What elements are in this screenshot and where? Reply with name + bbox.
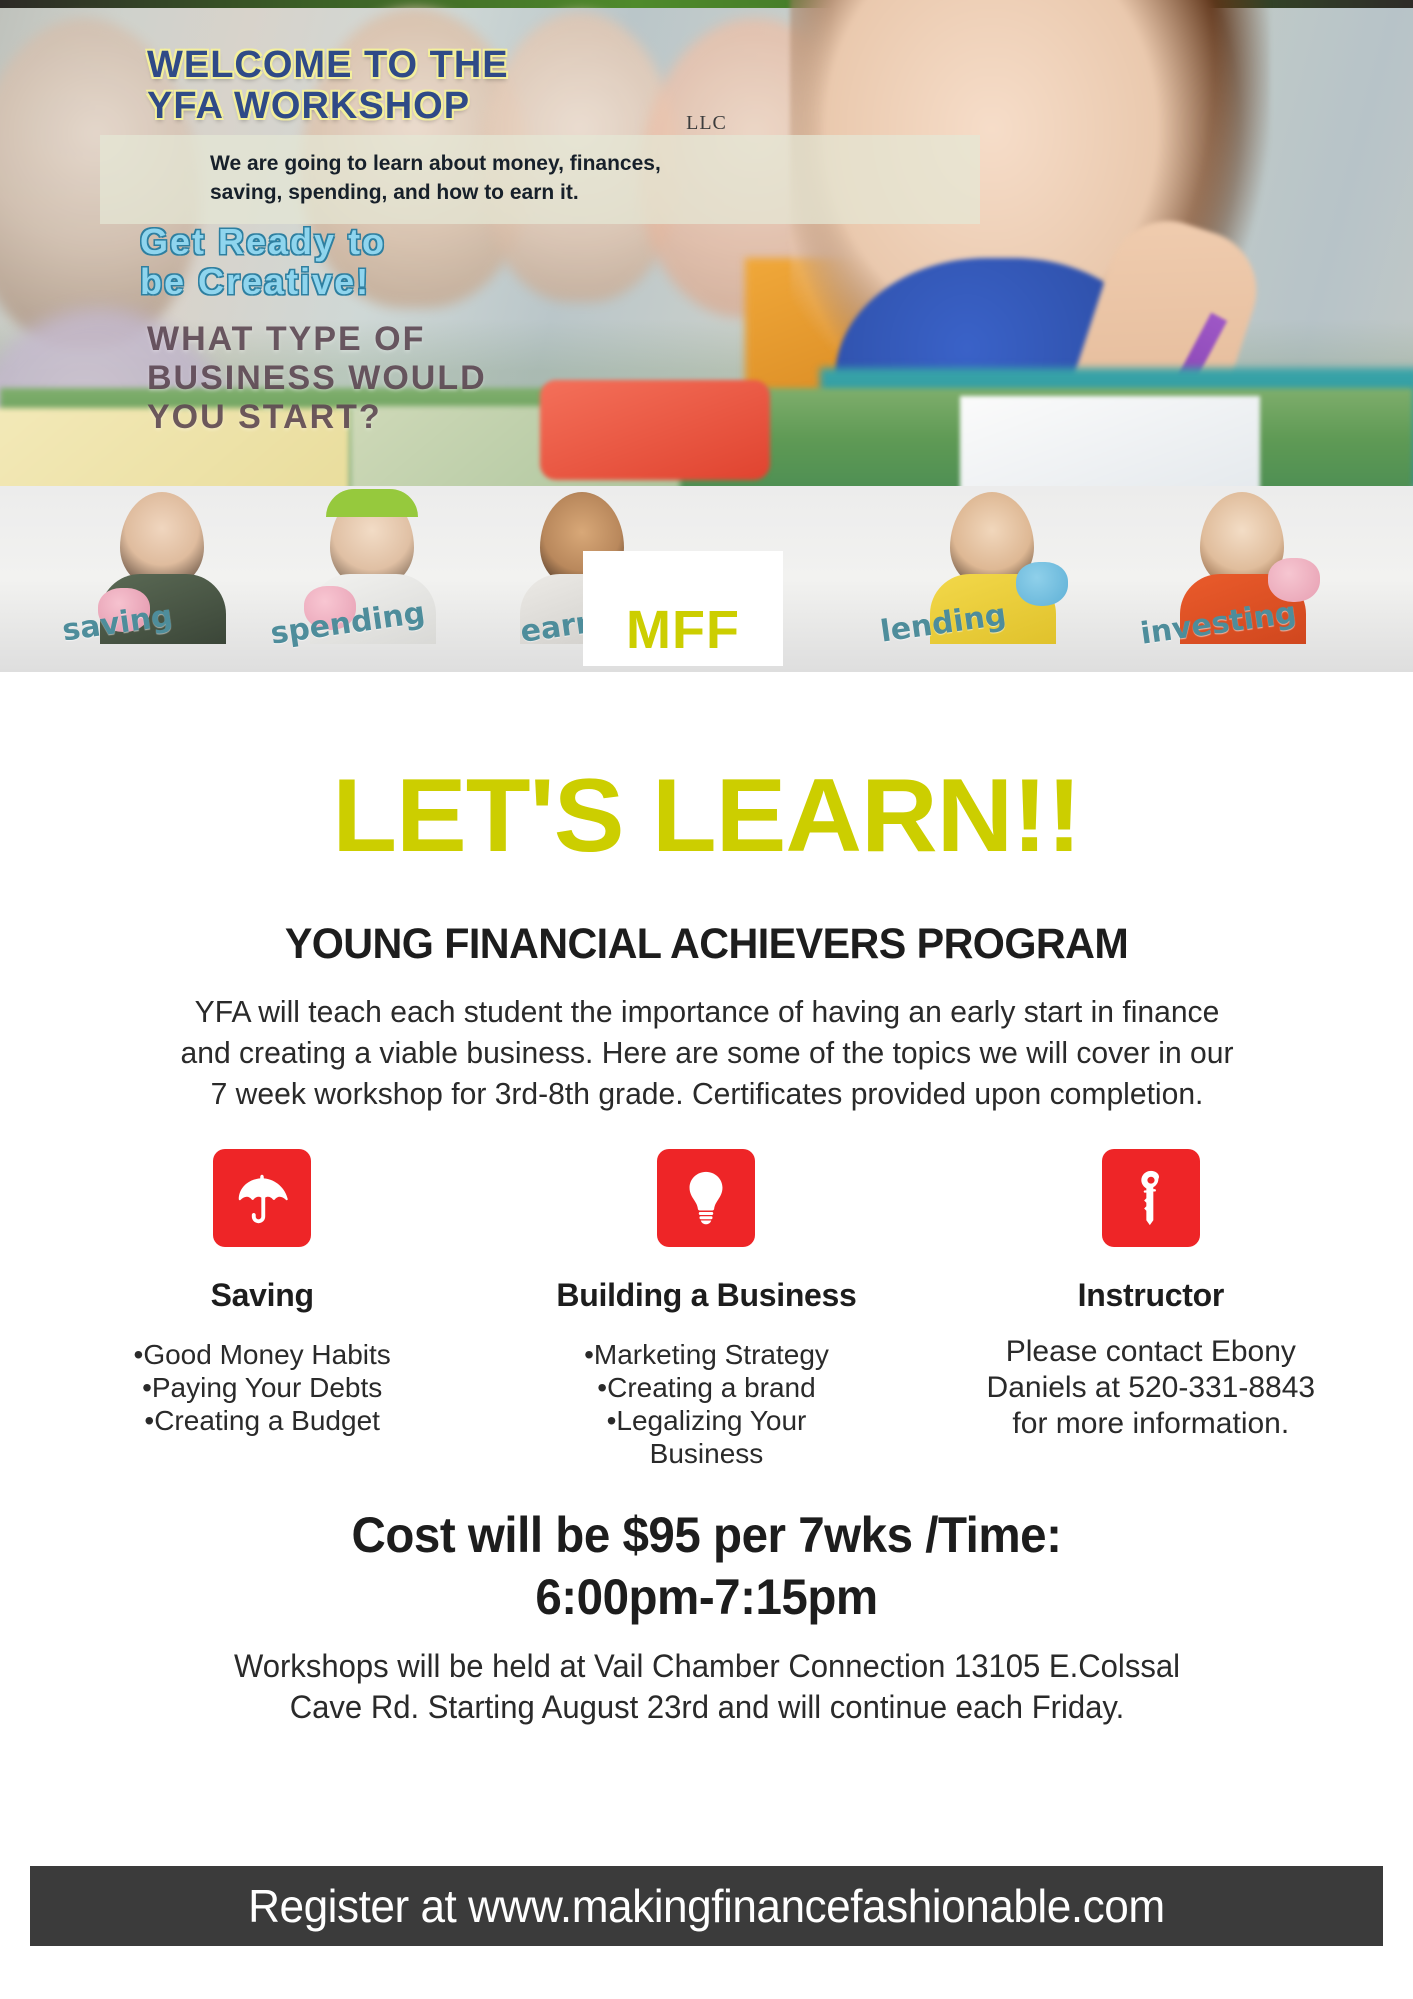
register-link-text[interactable]: Register at www.makingfinancefashionable…	[248, 1879, 1165, 1933]
banner-question-line3: YOU START?	[147, 398, 487, 437]
banner-subtext: We are going to learn about money, finan…	[100, 135, 980, 224]
umbrella-icon	[213, 1149, 311, 1247]
list-item: •Good Money Habits	[40, 1338, 484, 1371]
banner-creative-text: Get Ready to be Creative!	[140, 222, 386, 303]
intro-line-3: 7 week workshop for 3rd-8th grade. Certi…	[110, 1073, 1303, 1114]
mff-logo-mark: MFF	[583, 603, 783, 657]
lightbulb-icon	[657, 1149, 755, 1247]
location-line-1: Workshops will be held at Vail Chamber C…	[91, 1646, 1323, 1688]
column-instructor-contact: Please contact Ebony Daniels at 520-331-…	[929, 1334, 1373, 1442]
register-bar[interactable]: Register at www.makingfinancefashionable…	[30, 1866, 1383, 1946]
banner-question-text: WHAT TYPE OF BUSINESS WOULD YOU START?	[147, 320, 487, 436]
key-icon	[1102, 1149, 1200, 1247]
banner-subtext-line2: saving, spending, and how to earn it.	[210, 178, 960, 207]
list-item: •Creating a brand	[484, 1371, 928, 1404]
banner-headline-line1: WELCOME TO THE	[147, 45, 509, 86]
column-instructor-title: Instructor	[929, 1277, 1373, 1314]
list-item: •Marketing Strategy	[484, 1338, 928, 1371]
intro-line-2: and creating a viable business. Here are…	[110, 1032, 1303, 1073]
program-heading: YOUNG FINANCIAL ACHIEVERS PROGRAM	[28, 920, 1384, 969]
page-title: LET'S LEARN!!	[0, 764, 1413, 868]
column-saving-title: Saving	[40, 1277, 484, 1314]
column-instructor: Instructor Please contact Ebony Daniels …	[929, 1149, 1373, 1442]
column-building-a-business-list: •Marketing Strategy •Creating a brand •L…	[484, 1338, 928, 1470]
cost-line: Cost will be $95 per 7wks /Time:	[35, 1504, 1377, 1566]
banner-question-line2: BUSINESS WOULD	[147, 359, 487, 398]
column-building-a-business-title: Building a Business	[484, 1277, 928, 1314]
photo-pencil-case	[540, 380, 770, 480]
banner-creative-line1: Get Ready to	[140, 222, 386, 262]
banner-question-line1: WHAT TYPE OF	[147, 320, 487, 359]
list-item: •Paying Your Debts	[40, 1371, 484, 1404]
instructor-line-3: for more information.	[929, 1406, 1373, 1442]
intro-line-1: YFA will teach each student the importan…	[110, 991, 1303, 1032]
cost-and-time: Cost will be $95 per 7wks /Time: 6:00pm-…	[35, 1504, 1377, 1628]
list-item: •Legalizing Your	[484, 1404, 928, 1437]
instructor-line-2: Daniels at 520-331-8843	[929, 1370, 1373, 1406]
mff-logo-suffix: LLC	[0, 112, 1413, 135]
instructor-line-1: Please contact Ebony	[929, 1334, 1373, 1370]
list-item: •Creating a Budget	[40, 1404, 484, 1437]
flyer-body: LET'S LEARN!! YOUNG FINANCIAL ACHIEVERS …	[0, 672, 1413, 1729]
column-building-a-business: Building a Business •Marketing Strategy …	[484, 1149, 928, 1470]
location-line-2: Cave Rd. Starting August 23rd and will c…	[91, 1687, 1323, 1729]
location-details: Workshops will be held at Vail Chamber C…	[91, 1646, 1323, 1729]
intro-paragraph: YFA will teach each student the importan…	[110, 991, 1303, 1115]
banner-subtext-line1: We are going to learn about money, finan…	[210, 149, 960, 178]
column-saving-list: •Good Money Habits •Paying Your Debts •C…	[40, 1338, 484, 1437]
time-line: 6:00pm-7:15pm	[35, 1566, 1377, 1628]
banner-creative-line2: be Creative!	[140, 262, 386, 302]
column-saving: Saving •Good Money Habits •Paying Your D…	[40, 1149, 484, 1437]
list-item: Business	[484, 1437, 928, 1470]
mff-logo-card: MFF	[583, 551, 783, 666]
topics-columns: Saving •Good Money Habits •Paying Your D…	[0, 1149, 1413, 1470]
